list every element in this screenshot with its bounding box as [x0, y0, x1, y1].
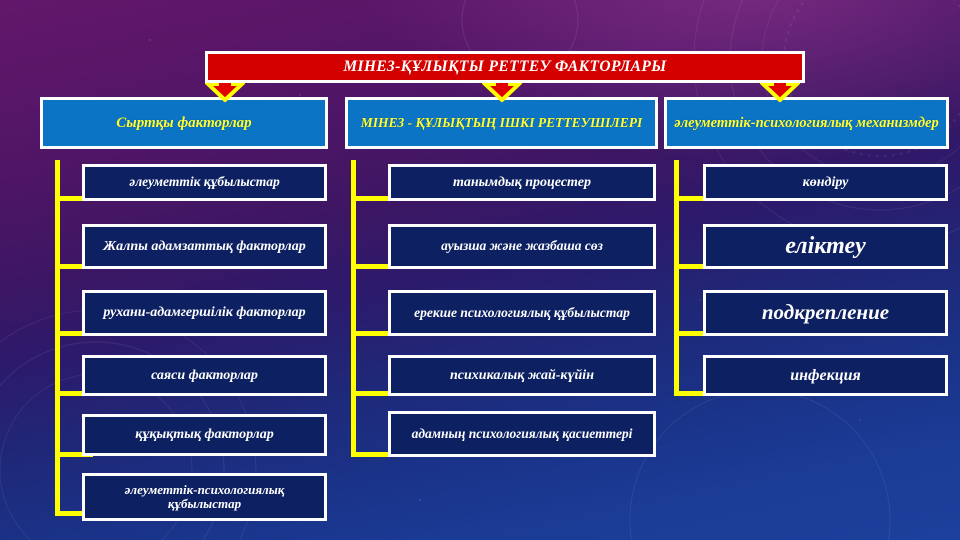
leaf-box-col2-5[interactable]: адамның психологиялық қасиеттері [388, 411, 656, 457]
leaf-label: құқықтық факторлар [129, 427, 280, 442]
connector-branch-col2-4 [351, 391, 389, 396]
leaf-label: саяси факторлар [145, 368, 264, 383]
connector-branch-col2-1 [351, 196, 389, 201]
leaf-label: танымдық процестер [447, 175, 597, 190]
column-header-label: МІНЕЗ - ҚҰЛЫҚТЫҢ ІШКІ РЕТТЕУШІЛЕРІ [355, 115, 648, 130]
column-header-outer-factors[interactable]: Сыртқы факторлар [40, 97, 328, 149]
leaf-label: инфекция [784, 367, 866, 385]
leaf-box-col3-2[interactable]: еліктеу [703, 224, 948, 269]
leaf-label: ерекше психологиялық құбылыстар [408, 306, 636, 321]
leaf-label: психикалық жай-күйін [444, 368, 600, 383]
column-header-label: Сыртқы факторлар [110, 115, 257, 132]
leaf-box-col1-1[interactable]: әлеуметтік құбылыстар [82, 164, 327, 201]
connector-branch-col2-5 [351, 452, 389, 457]
leaf-box-col2-2[interactable]: ауызша және жазбаша сөз [388, 224, 656, 269]
column-header-inner-regulators[interactable]: МІНЕЗ - ҚҰЛЫҚТЫҢ ІШКІ РЕТТЕУШІЛЕРІ [345, 97, 658, 149]
leaf-label: ауызша және жазбаша сөз [435, 239, 609, 254]
leaf-box-col3-3[interactable]: подкрепление [703, 290, 948, 336]
leaf-label: көндіру [797, 175, 855, 190]
leaf-box-col2-3[interactable]: ерекше психологиялық құбылыстар [388, 290, 656, 336]
column-header-label: әлеуметтік-психологиялық механизмдер [668, 115, 944, 131]
connector-spine-col1 [55, 160, 60, 516]
leaf-box-col2-1[interactable]: танымдық процестер [388, 164, 656, 201]
connector-branch-col2-3 [351, 331, 389, 336]
leaf-box-col1-4[interactable]: саяси факторлар [82, 355, 327, 396]
connector-branch-col2-2 [351, 264, 389, 269]
leaf-box-col3-4[interactable]: инфекция [703, 355, 948, 396]
leaf-label: адамның психологиялық қасиеттері [406, 427, 639, 442]
leaf-box-col1-2[interactable]: Жалпы адамзаттық факторлар [82, 224, 327, 269]
column-header-socio-psych-mechanisms[interactable]: әлеуметтік-психологиялық механизмдер [664, 97, 949, 149]
leaf-box-col1-5[interactable]: құқықтық факторлар [82, 414, 327, 456]
leaf-label: Жалпы адамзаттық факторлар [97, 239, 311, 254]
leaf-label: әлеуметтік құбылыстар [123, 175, 286, 190]
leaf-box-col3-1[interactable]: көндіру [703, 164, 948, 201]
title-banner: МІНЕЗ-ҚҰЛЫҚТЫ РЕТТЕУ ФАКТОРЛАРЫ [205, 51, 805, 83]
page-title: МІНЕЗ-ҚҰЛЫҚТЫ РЕТТЕУ ФАКТОРЛАРЫ [343, 58, 666, 76]
leaf-label: әлеуметтік-психологиялық құбылыстар [85, 483, 324, 512]
leaf-box-col2-4[interactable]: психикалық жай-күйін [388, 355, 656, 396]
leaf-label: рухани-адамгершілік факторлар [97, 305, 311, 320]
slide-canvas: МІНЕЗ-ҚҰЛЫҚТЫ РЕТТЕУ ФАКТОРЛАРЫ Сыртқы ф… [0, 0, 960, 540]
leaf-box-col1-6[interactable]: әлеуметтік-психологиялық құбылыстар [82, 473, 327, 521]
connector-spine-col2 [351, 160, 356, 457]
leaf-label: подкрепление [756, 301, 895, 324]
leaf-label: еліктеу [779, 233, 872, 259]
leaf-box-col1-3[interactable]: рухани-адамгершілік факторлар [82, 290, 327, 336]
